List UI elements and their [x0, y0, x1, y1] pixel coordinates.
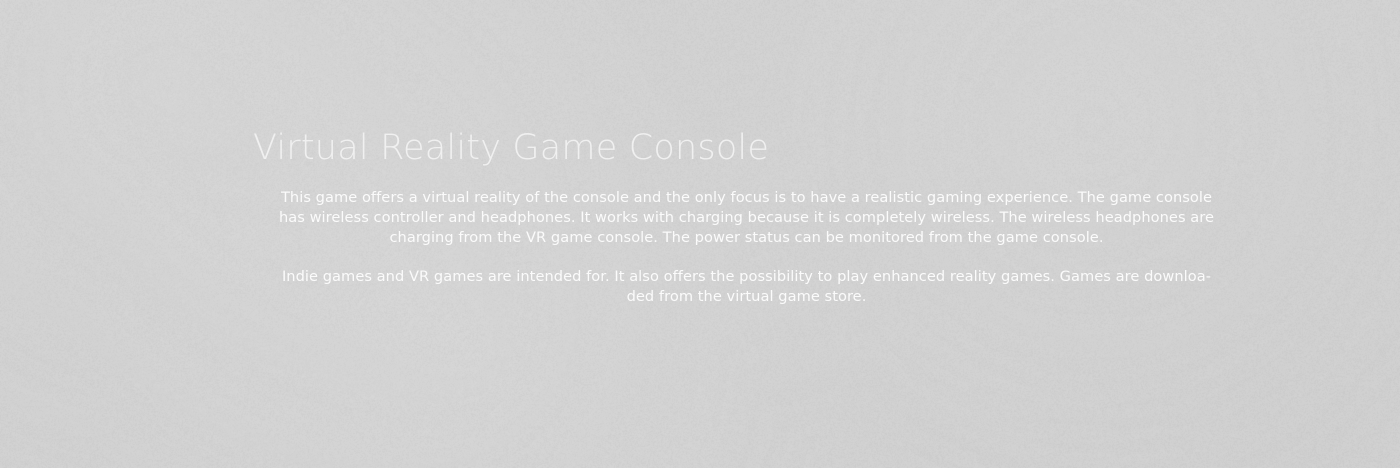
paragraph-intro-line-1: This game offers a virtual reality of th…	[253, 188, 1240, 208]
paragraph-games: Indie games and VR games are intended fo…	[253, 267, 1240, 307]
page-title: Virtual Reality Game Console	[253, 126, 1240, 170]
presentation-slide: Virtual Reality Game Console This game o…	[0, 0, 1400, 468]
paragraph-games-line-1: Indie games and VR games are intended fo…	[253, 267, 1240, 287]
paragraph-intro-line-3: charging from the VR game console. The p…	[253, 228, 1240, 248]
paragraph-games-line-2: ded from the virtual game store.	[253, 287, 1240, 307]
paragraph-intro-line-2: has wireless controller and headphones. …	[253, 208, 1240, 228]
paragraph-intro: This game offers a virtual reality of th…	[253, 188, 1240, 248]
text-content-block: Virtual Reality Game Console This game o…	[253, 126, 1240, 307]
